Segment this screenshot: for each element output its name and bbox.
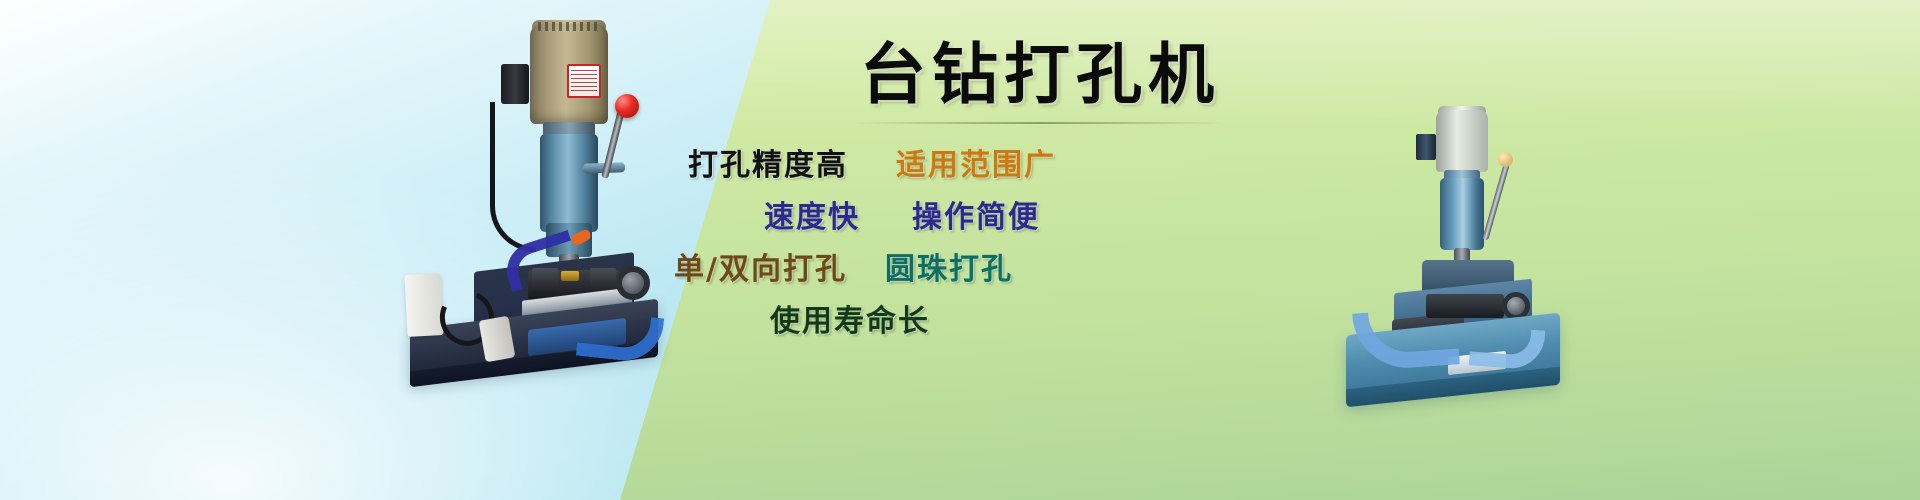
title-divider [855,122,1225,124]
feature-precision: 打孔精度高 [688,151,848,181]
motor-vents [538,22,600,31]
feature-row-3: 单/双向打孔 圆珠打孔 [660,244,1280,296]
spindle-housing-right [1440,178,1484,250]
feature-range: 适用范围广 [896,151,1056,181]
drill-press-photo-left [378,18,648,368]
feature-row-1: 打孔精度高 适用范围广 [660,140,1280,192]
lever-knob-red [615,94,639,118]
title-block: 台钻打孔机 [760,38,1320,124]
hand-wheel [616,266,650,300]
junction-box [501,64,529,104]
feature-direction: 单/双向打孔 [674,255,847,285]
motor-housing-right [1436,110,1488,172]
product-banner: 台钻打孔机 打孔精度高 适用范围广 速度快 操作简便 单/双向打孔 圆珠打孔 使… [0,0,1920,500]
feature-row-2: 速度快 操作简便 [660,192,1280,244]
feature-lifespan: 使用寿命长 [770,307,930,337]
motor-spec-label [567,64,601,98]
feature-list: 打孔精度高 适用范围广 速度快 操作简便 单/双向打孔 圆珠打孔 使用寿命长 [660,140,1280,348]
vise-jaw-left [532,268,558,294]
power-cable [490,102,536,252]
junction-box-right [1416,134,1436,160]
feed-lever-right [1482,162,1510,241]
feature-speed: 速度快 [764,203,860,233]
feature-row-4: 使用寿命长 [660,296,1280,348]
drill-press-photo-right [1330,110,1570,410]
page-title: 台钻打孔机 [760,38,1320,112]
feature-easy: 操作简便 [912,203,1040,233]
control-box [404,273,443,337]
lever-knob-right [1498,152,1513,167]
brass-workpiece [561,271,579,281]
feature-bead: 圆珠打孔 [885,255,1013,285]
spindle-housing [540,134,598,232]
